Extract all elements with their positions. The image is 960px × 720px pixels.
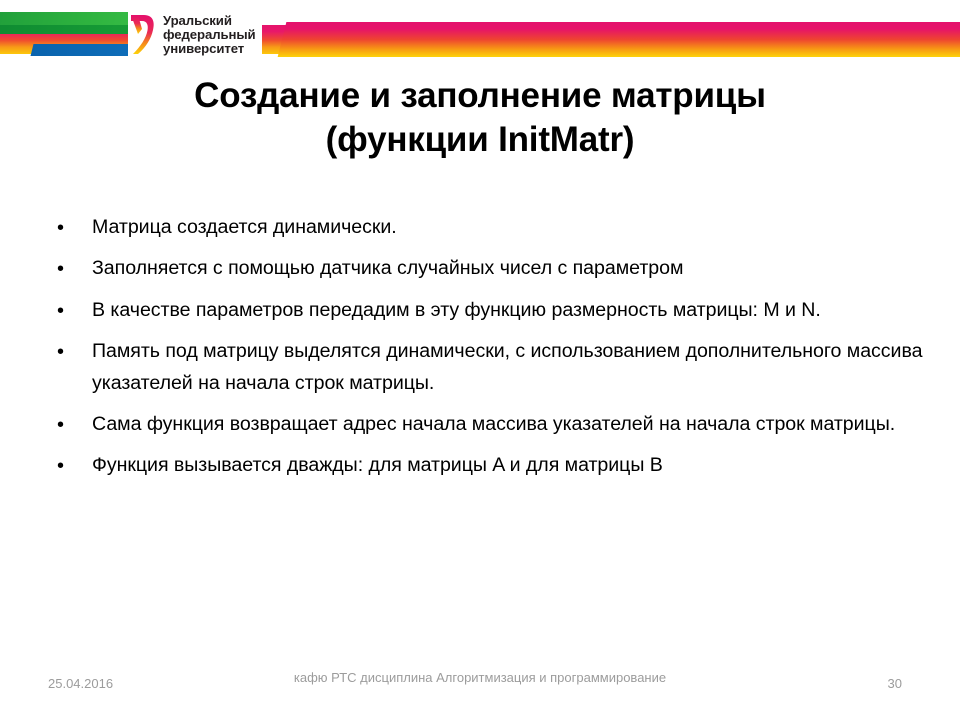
footer-date: 25.04.2016 — [48, 676, 113, 691]
list-item: • Функция вызывается дважды: для матрицы… — [52, 450, 924, 482]
urfu-logo-line-1: Уральский — [163, 14, 256, 28]
bullet-point-icon: • — [52, 450, 92, 482]
slide-title-line-1: Создание и заполнение матрицы — [60, 74, 900, 118]
bullet-text: В качестве параметров передадим в эту фу… — [92, 295, 924, 327]
urfu-logo-wordmark: Уральский федеральный университет — [163, 14, 256, 57]
slide-title: Создание и заполнение матрицы (функции I… — [60, 74, 900, 162]
footer-page-number: 30 — [888, 676, 902, 691]
bullet-point-icon: • — [52, 212, 92, 244]
list-item: • В качестве параметров передадим в эту … — [52, 295, 924, 327]
urfu-logo: Уральский федеральный университет — [128, 9, 262, 61]
list-item: • Заполняется с помощью датчика случайны… — [52, 253, 924, 285]
brand-stripe-gradient-right — [278, 22, 960, 57]
bullet-text: Заполняется с помощью датчика случайных … — [92, 253, 924, 285]
bullet-text: Функция вызывается дважды: для матрицы A… — [92, 450, 924, 482]
bullet-text: Матрица создается динамически. — [92, 212, 924, 244]
bullet-point-icon: • — [52, 253, 92, 285]
bullet-text: Сама функция возвращает адрес начала мас… — [92, 409, 924, 441]
list-item: • Сама функция возвращает адрес начала м… — [52, 409, 924, 441]
list-item: • Память под матрицу выделятся динамичес… — [52, 336, 924, 399]
slide-bullet-list: • Матрица создается динамически. • Запол… — [52, 212, 924, 491]
urfu-logo-line-3: университет — [163, 42, 256, 56]
footer-course-label: кафю РТС дисциплина Алгоритмизация и про… — [280, 668, 680, 688]
urfu-u-mark-icon — [128, 13, 156, 57]
slide-footer: 25.04.2016 кафю РТС дисциплина Алгоритми… — [0, 666, 960, 712]
slide-title-line-2: (функции InitMatr) — [60, 118, 900, 162]
bullet-point-icon: • — [52, 295, 92, 327]
urfu-logo-line-2: федеральный — [163, 28, 256, 42]
bullet-point-icon: • — [52, 336, 92, 368]
list-item: • Матрица создается динамически. — [52, 212, 924, 244]
bullet-point-icon: • — [52, 409, 92, 441]
bullet-text: Память под матрицу выделятся динамически… — [92, 336, 924, 399]
